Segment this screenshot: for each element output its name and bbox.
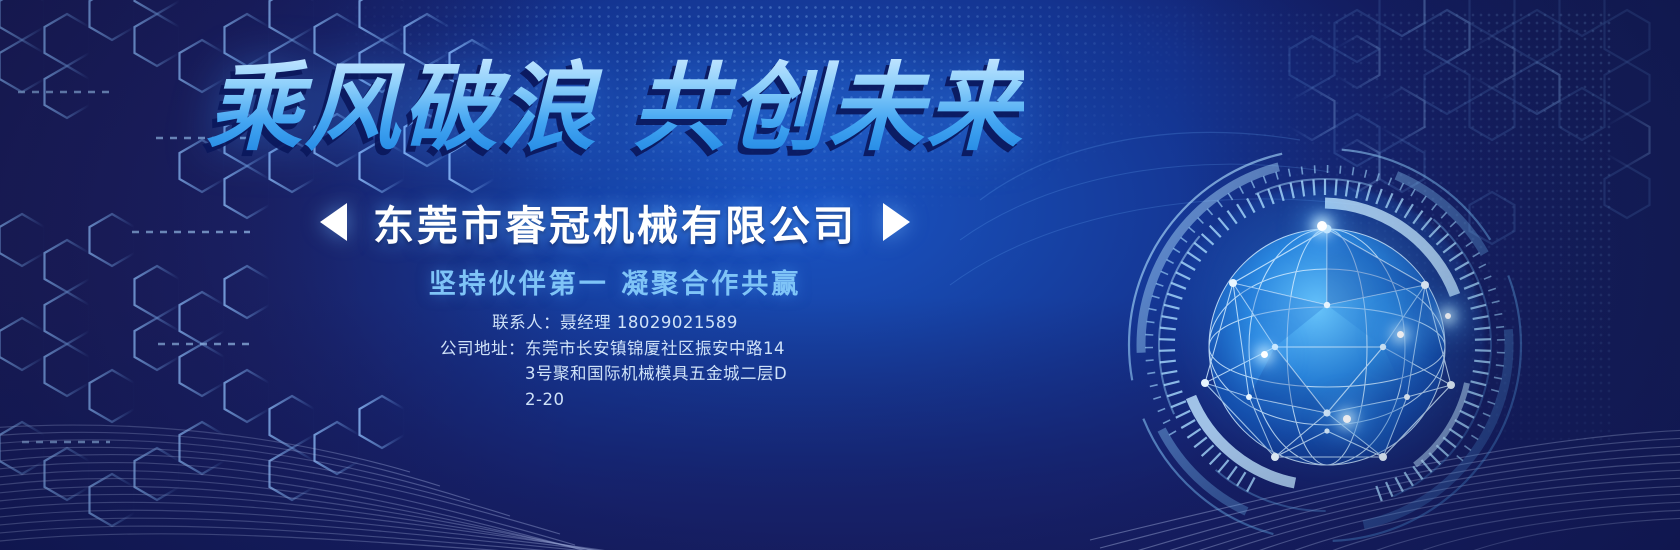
headline-text: 乘风破浪共创未来 <box>206 58 1024 160</box>
address-value: 东莞市长安镇锦厦社区振安中路143号聚和国际机械模具五金城二层D2-20 <box>525 336 790 413</box>
address-label: 公司地址： <box>440 336 525 362</box>
right-triangle-icon <box>883 203 910 241</box>
contact-block: 联系人：聂经理 18029021589 公司地址： 东莞市长安镇锦厦社区振安中路… <box>0 310 1230 412</box>
company-name: 东莞市睿冠机械有限公司 <box>373 192 857 252</box>
company-name-row: 东莞市睿冠机械有限公司 <box>0 192 1230 252</box>
slogan-text: 坚持伙伴第一 凝聚合作共赢 <box>0 262 1230 301</box>
contact-person-line: 联系人：聂经理 18029021589 <box>492 310 738 336</box>
headline-block: 乘风破浪共创未来 <box>0 58 1230 160</box>
headline-part2: 共创未来 <box>632 52 1024 164</box>
headline-part1: 乘风破浪 <box>206 52 598 164</box>
company-address-line: 公司地址： 东莞市长安镇锦厦社区振安中路143号聚和国际机械模具五金城二层D2-… <box>440 336 790 413</box>
marketing-banner: 乘风破浪共创未来 东莞市睿冠机械有限公司 坚持伙伴第一 凝聚合作共赢 联系人：聂… <box>0 0 1680 550</box>
left-triangle-icon <box>320 203 347 241</box>
